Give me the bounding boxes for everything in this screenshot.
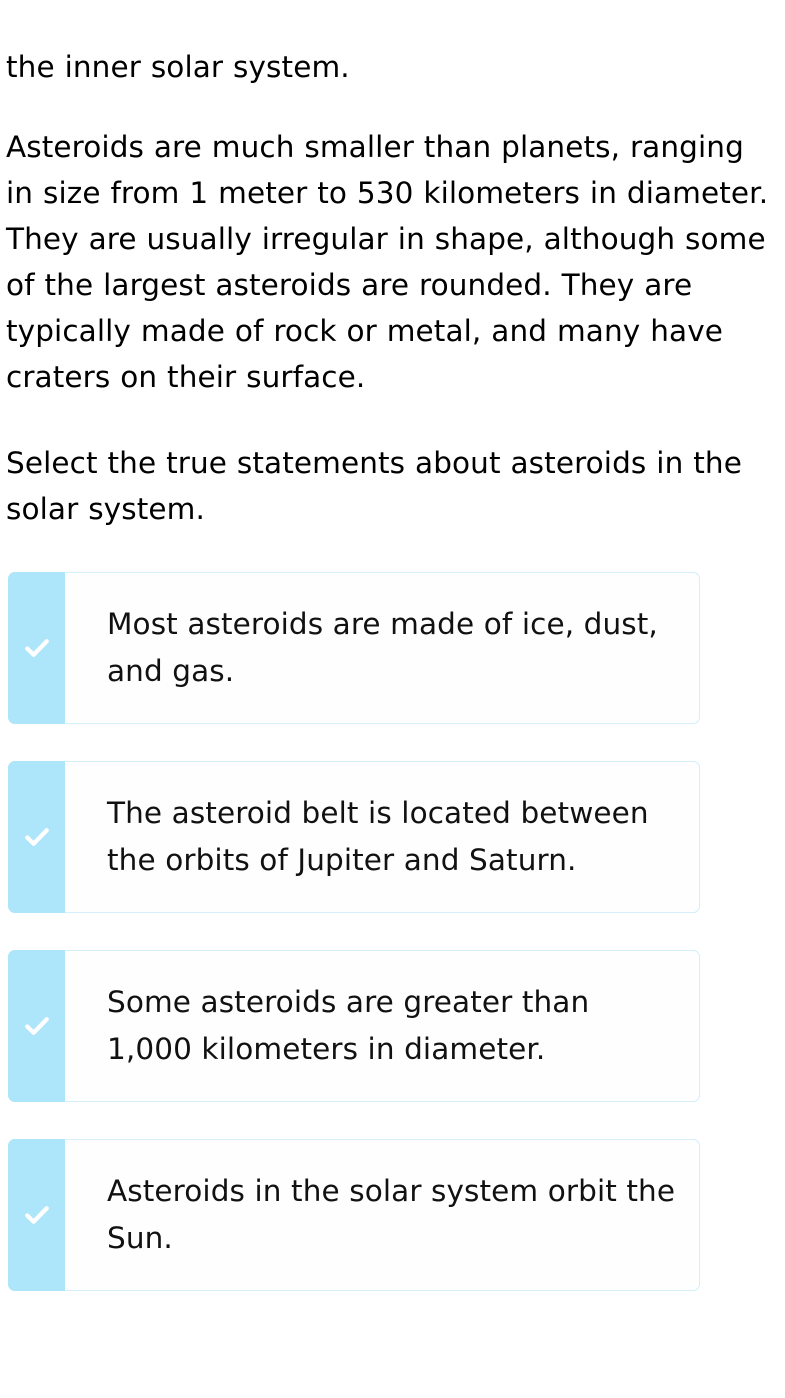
passage-paragraph-1: the inner solar system. [6, 44, 775, 90]
checkmark-icon [22, 1200, 52, 1230]
option-card-2[interactable]: The asteroid belt is located between the… [8, 761, 700, 913]
passage-text: the inner solar system. Asteroids are mu… [0, 44, 785, 532]
passage-paragraph-2: Asteroids are much smaller than planets,… [6, 124, 775, 400]
option-3-body[interactable]: Some asteroids are greater than 1,000 ki… [65, 950, 700, 1102]
option-card-1[interactable]: Most asteroids are made of ice, dust, an… [8, 572, 700, 724]
option-3-label: Some asteroids are greater than 1,000 ki… [107, 979, 683, 1073]
quiz-page: the inner solar system. Asteroids are mu… [0, 0, 785, 1398]
option-1-label: Most asteroids are made of ice, dust, an… [107, 601, 683, 695]
option-card-4[interactable]: Asteroids in the solar system orbit the … [8, 1139, 700, 1291]
option-1-check-strip[interactable] [8, 572, 65, 724]
checkmark-icon [22, 633, 52, 663]
option-4-label: Asteroids in the solar system orbit the … [107, 1168, 683, 1262]
option-card-3[interactable]: Some asteroids are greater than 1,000 ki… [8, 950, 700, 1102]
checkmark-icon [22, 1011, 52, 1041]
option-2-body[interactable]: The asteroid belt is located between the… [65, 761, 700, 913]
option-4-check-strip[interactable] [8, 1139, 65, 1291]
option-1-body[interactable]: Most asteroids are made of ice, dust, an… [65, 572, 700, 724]
option-3-check-strip[interactable] [8, 950, 65, 1102]
answer-options-list: Most asteroids are made of ice, dust, an… [0, 572, 785, 1291]
option-2-label: The asteroid belt is located between the… [107, 790, 683, 884]
option-2-check-strip[interactable] [8, 761, 65, 913]
question-prompt: Select the true statements about asteroi… [6, 440, 775, 532]
checkmark-icon [22, 822, 52, 852]
option-4-body[interactable]: Asteroids in the solar system orbit the … [65, 1139, 700, 1291]
